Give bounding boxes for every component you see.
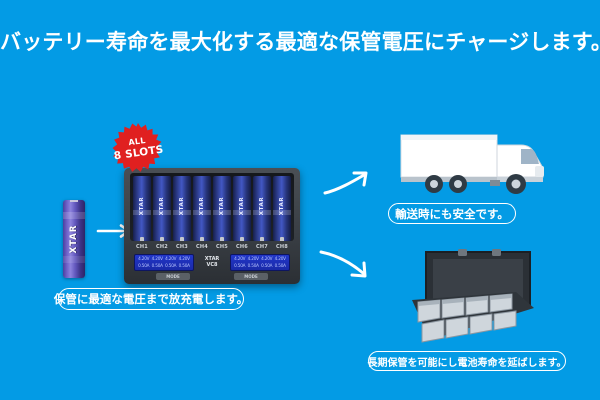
storage-case-illustration: [404, 248, 542, 344]
channel-label: CH3: [173, 244, 191, 253]
charger-bay: XTAR: [153, 176, 171, 241]
battery-positive-terminal-icon: [70, 200, 78, 202]
lcd-value: 0.50A: [233, 263, 247, 269]
lcd-value: 0.50A: [178, 263, 192, 269]
bay-brand-label: XTAR: [279, 197, 285, 215]
charger-model-label: VC8: [197, 263, 227, 269]
charger-bay: XTAR: [233, 176, 251, 241]
mode-button-right[interactable]: MODE: [234, 273, 268, 280]
channel-label: CH6: [233, 244, 251, 253]
bay-brand-label: XTAR: [179, 197, 185, 215]
channel-label: CH5: [213, 244, 231, 253]
charger-branding: XTAR VC8: [197, 257, 227, 269]
channel-label: CH1: [133, 244, 151, 253]
page-title: バッテリー寿命を最大化する最適な保管電圧にチャージします。: [0, 26, 600, 56]
bay-brand-label: XTAR: [239, 197, 245, 215]
lcd-value: 0.50A: [151, 263, 165, 269]
delivery-truck-illustration: [398, 132, 558, 198]
lcd-value: 0.50A: [274, 263, 288, 269]
bay-brand-label: XTAR: [259, 197, 265, 215]
badge-line-2: 8 SLOTS: [113, 144, 164, 161]
caption-charger: 保管に最適な電圧まで放充電します。: [58, 288, 244, 310]
bay-brand-label: XTAR: [219, 197, 225, 215]
battery-band: [63, 212, 85, 219]
charger-display-row: 4.20V 4.20V 4.20V 4.20V 0.50A 0.50A 0.50…: [134, 254, 290, 271]
lcd-value: 0.50A: [164, 263, 178, 269]
battery-charger-device: XTAR XTAR XTAR XTAR XTAR XTAR XTAR XTAR: [124, 168, 300, 284]
lcd-display-right: 4.20V 4.20V 4.20V 4.20V 0.50A 0.50A 0.50…: [230, 254, 290, 271]
arrow-down-right-icon: [318, 244, 374, 284]
mode-button-left[interactable]: MODE: [156, 273, 190, 280]
bay-brand-label: XTAR: [139, 197, 145, 215]
lcd-display-left: 4.20V 4.20V 4.20V 4.20V 0.50A 0.50A 0.50…: [134, 254, 194, 271]
channel-label-row: CH1 CH2 CH3 CH4 CH5 CH6 CH7 CH8: [130, 244, 294, 253]
battery-brand-label: XTAR: [69, 225, 79, 254]
badge-text: ALL 8 SLOTS: [109, 119, 168, 178]
arrow-up-right-icon: [322, 168, 372, 200]
battery-cell: XTAR 3300mAh: [63, 200, 85, 278]
charger-bay: XTAR: [253, 176, 271, 241]
battery-band: [63, 256, 85, 263]
charger-bay: XTAR: [133, 176, 151, 241]
lcd-value: 0.50A: [247, 263, 261, 269]
channel-label: CH8: [273, 244, 291, 253]
charger-bay: XTAR: [273, 176, 291, 241]
caption-case: 長期保管を可能にし電池寿命を延ばします。: [368, 351, 566, 371]
lcd-value: 0.50A: [137, 263, 151, 269]
charger-bay-area: XTAR XTAR XTAR XTAR XTAR XTAR XTAR XTAR: [130, 173, 294, 241]
charger-bay: XTAR: [173, 176, 191, 241]
charger-button-row: MODE MODE: [134, 273, 290, 280]
bay-brand-label: XTAR: [199, 197, 205, 215]
charger-bay: XTAR: [193, 176, 211, 241]
channel-label: CH2: [153, 244, 171, 253]
bay-brand-label: XTAR: [159, 197, 165, 215]
lcd-value: 0.50A: [260, 263, 274, 269]
caption-truck: 輸送時にも安全です。: [388, 203, 516, 224]
all-slots-badge: ALL 8 SLOTS: [112, 122, 164, 174]
charger-bay: XTAR: [213, 176, 231, 241]
channel-label: CH7: [253, 244, 271, 253]
channel-label: CH4: [193, 244, 211, 253]
poster-canvas: バッテリー寿命を最大化する最適な保管電圧にチャージします。 XTAR 3300m…: [0, 0, 600, 400]
